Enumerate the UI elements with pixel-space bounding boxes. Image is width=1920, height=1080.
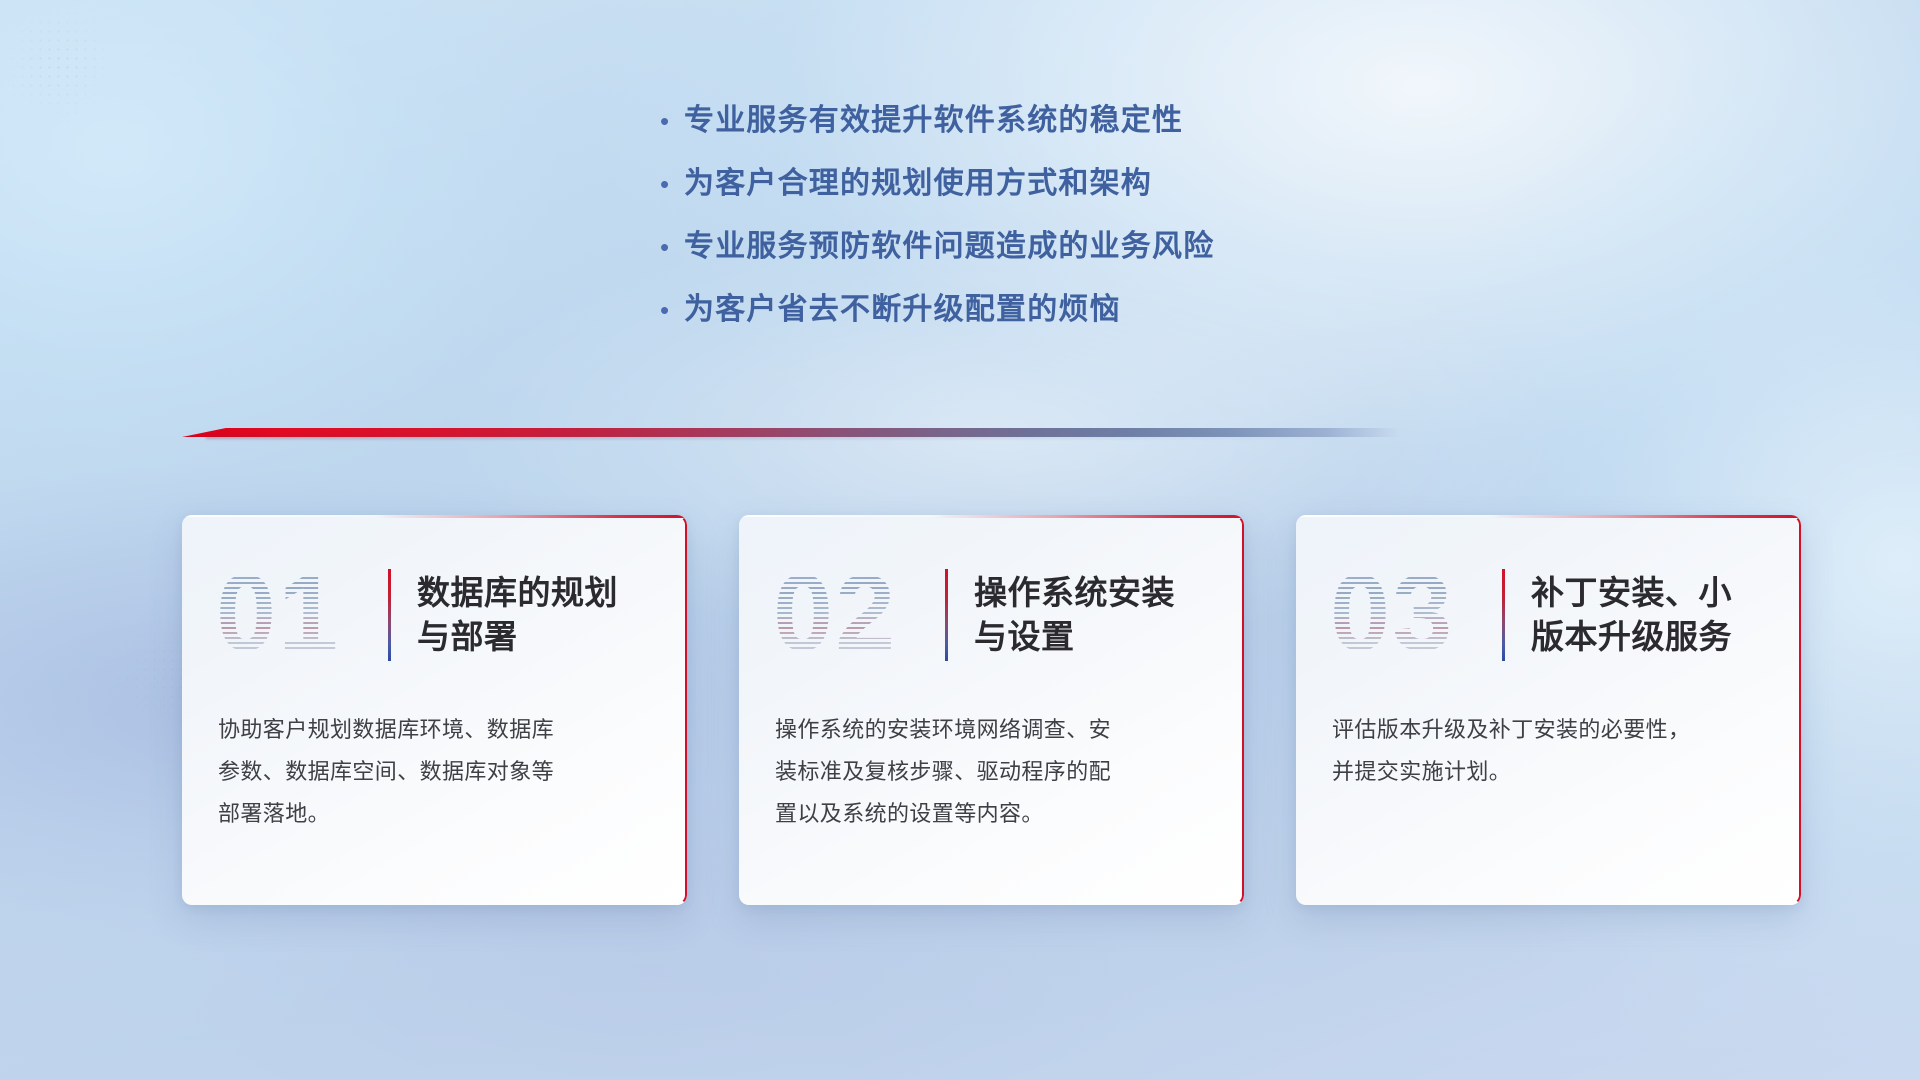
bullet-dot-icon: • — [660, 108, 684, 134]
card-number-graphic: 03 03 — [1330, 557, 1498, 673]
service-card[interactable]: 03 03 补丁安装、小 版本升级服务 评估版本升级及补丁安装的必要性， 并提交… — [1296, 515, 1801, 905]
card-description: 操作系统的安装环境网络调查、安 装标准及复核步骤、驱动程序的配 置以及系统的设置… — [739, 675, 1244, 834]
card-description: 评估版本升级及补丁安装的必要性， 并提交实施计划。 — [1296, 675, 1801, 793]
divider-bar-shadow — [206, 436, 1375, 439]
slide-canvas: • 专业服务有效提升软件系统的稳定性 • 为客户合理的规划使用方式和架构 • 专… — [0, 0, 1920, 1080]
bullet-list: • 专业服务有效提升软件系统的稳定性 • 为客户合理的规划使用方式和架构 • 专… — [660, 104, 1460, 356]
card-title-line: 与设置 — [974, 615, 1175, 659]
bullet-item: • 为客户省去不断升级配置的烦恼 — [660, 293, 1460, 326]
card-description-line: 协助客户规划数据库环境、数据库 — [218, 709, 651, 751]
card-header: 02 02 操作系统安装 与设置 — [739, 515, 1244, 675]
card-description-line: 评估版本升级及补丁安装的必要性， — [1332, 709, 1765, 751]
service-card[interactable]: 02 02 操作系统安装 与设置 操作系统的安装环境网络调查、安 装标准及复核步… — [739, 515, 1244, 905]
bullet-dot-icon: • — [660, 171, 684, 197]
card-description-line: 操作系统的安装环境网络调查、安 — [775, 709, 1208, 751]
card-header: 03 03 补丁安装、小 版本升级服务 — [1296, 515, 1801, 675]
card-description-line: 置以及系统的设置等内容。 — [775, 793, 1208, 835]
card-title-line: 与部署 — [417, 615, 618, 659]
section-divider — [182, 426, 1400, 439]
card-title-line: 补丁安装、小 — [1531, 571, 1732, 615]
card-number-value: 02 — [773, 557, 941, 669]
card-description-line: 并提交实施计划。 — [1332, 751, 1765, 793]
bullet-item-text: 专业服务有效提升软件系统的稳定性 — [684, 104, 1183, 137]
background-dot-texture-left-upper — [0, 0, 120, 130]
card-title-line: 操作系统安装 — [974, 571, 1175, 615]
bullet-item-text: 为客户合理的规划使用方式和架构 — [684, 167, 1152, 200]
card-number-graphic: 01 01 — [216, 557, 384, 673]
bullet-item: • 专业服务预防软件问题造成的业务风险 — [660, 230, 1460, 263]
bullet-item-text: 为客户省去不断升级配置的烦恼 — [684, 293, 1121, 326]
card-title-line: 版本升级服务 — [1531, 615, 1732, 659]
card-header: 01 01 数据库的规划 与部署 — [182, 515, 687, 675]
bullet-dot-icon: • — [660, 297, 684, 323]
bullet-item: • 专业服务有效提升软件系统的稳定性 — [660, 104, 1460, 137]
card-title-line: 数据库的规划 — [417, 571, 618, 615]
card-title: 操作系统安装 与设置 — [974, 571, 1175, 658]
card-description-line: 装标准及复核步骤、驱动程序的配 — [775, 751, 1208, 793]
card-title: 数据库的规划 与部署 — [417, 571, 618, 658]
card-title: 补丁安装、小 版本升级服务 — [1531, 571, 1732, 658]
service-card-row: 01 01 数据库的规划 与部署 协助客户规划数据库环境、数据库 参数、数据库空… — [182, 515, 1802, 915]
bullet-item-text: 专业服务预防软件问题造成的业务风险 — [684, 230, 1214, 263]
card-description-line: 部署落地。 — [218, 793, 651, 835]
card-number-value: 01 — [216, 557, 384, 669]
card-accent-rule — [945, 569, 948, 661]
card-number-value: 03 — [1330, 557, 1498, 669]
service-card[interactable]: 01 01 数据库的规划 与部署 协助客户规划数据库环境、数据库 参数、数据库空… — [182, 515, 687, 905]
card-number-graphic: 02 02 — [773, 557, 941, 673]
bullet-dot-icon: • — [660, 234, 684, 260]
card-accent-rule — [388, 569, 391, 661]
card-accent-rule — [1502, 569, 1505, 661]
card-description-line: 参数、数据库空间、数据库对象等 — [218, 751, 651, 793]
bullet-item: • 为客户合理的规划使用方式和架构 — [660, 167, 1460, 200]
card-description: 协助客户规划数据库环境、数据库 参数、数据库空间、数据库对象等 部署落地。 — [182, 675, 687, 834]
